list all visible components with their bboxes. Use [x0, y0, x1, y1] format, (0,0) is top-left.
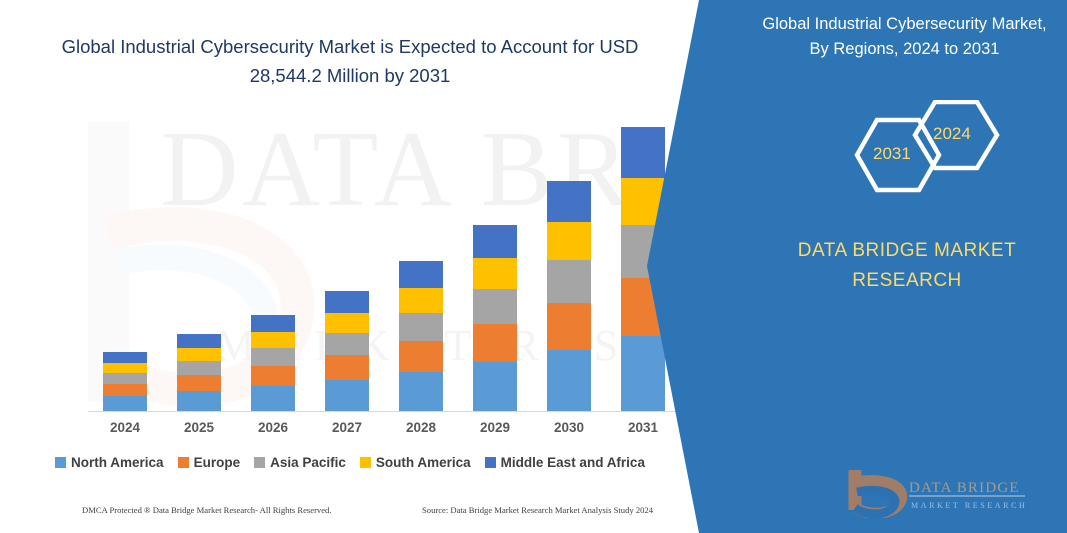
bar-segment [103, 373, 147, 384]
dbmr-logo-sub: MARKET RESEARCH [911, 501, 1027, 510]
right-blue-panel: Global Industrial Cybersecurity Market, … [647, 0, 1067, 533]
bar-segment [547, 181, 591, 222]
legend-swatch-icon [178, 457, 189, 468]
legend-label: Middle East and Africa [501, 455, 645, 470]
legend-swatch-icon [360, 457, 371, 468]
bar-column [399, 261, 443, 412]
legend-label: South America [376, 455, 471, 470]
bar-column [177, 334, 221, 412]
bar-segment [547, 350, 591, 412]
x-axis-labels: 20242025202620272028202920302031 [88, 420, 680, 446]
bar-segment [325, 380, 369, 412]
legend-label: Europe [194, 455, 241, 470]
bar-segment [621, 336, 665, 412]
bar-segment [399, 261, 443, 288]
bar-segment [103, 384, 147, 396]
footer-source: Source: Data Bridge Market Research Mark… [422, 505, 653, 515]
bar-segment [473, 362, 517, 412]
legend-item[interactable]: Asia Pacific [254, 455, 346, 470]
footer-copyright: DMCA Protected ® Data Bridge Market Rese… [82, 505, 332, 515]
legend-item[interactable]: North America [55, 455, 164, 470]
bar-segment [399, 313, 443, 341]
legend-label: North America [71, 455, 164, 470]
chart-legend: North AmericaEuropeAsia PacificSouth Ame… [0, 455, 700, 470]
panel-brand-line1: DATA BRIDGE MARKET [798, 240, 1016, 261]
dbmr-logo-icon: DATA BRIDGE MARKET RESEARCH [847, 466, 1032, 518]
bar-segment [251, 348, 295, 366]
hex-label-2031: 2031 [873, 144, 911, 164]
bar-segment [399, 341, 443, 372]
legend-item[interactable]: Middle East and Africa [485, 455, 645, 470]
bar-segment [251, 366, 295, 386]
infographic-canvas: DATA BRIDGE MARKET RESEARCH Global Indus… [0, 0, 1067, 533]
x-axis-tick-label: 2028 [384, 420, 458, 435]
legend-swatch-icon [55, 457, 66, 468]
bar-segment [473, 225, 517, 258]
x-axis-line [88, 411, 680, 412]
panel-title: Global Industrial Cybersecurity Market, … [757, 12, 1052, 62]
bar-segment [177, 361, 221, 375]
bar-segment [251, 332, 295, 348]
bar-segment [621, 127, 665, 178]
panel-brand: DATA BRIDGE MARKET RESEARCH [757, 236, 1057, 296]
x-axis-tick-label: 2024 [88, 420, 162, 435]
bar-segment [547, 260, 591, 303]
footer: DMCA Protected ® Data Bridge Market Rese… [72, 505, 692, 525]
x-axis-tick-label: 2026 [236, 420, 310, 435]
x-axis-tick-label: 2031 [606, 420, 680, 435]
bar-segment [103, 352, 147, 363]
bar-column [325, 291, 369, 412]
bar-segment [103, 363, 147, 373]
bar-segment [473, 324, 517, 362]
bar-column [547, 181, 591, 412]
bar-segment [177, 348, 221, 361]
stacked-bar-chart [88, 100, 678, 412]
bar-segment [325, 291, 369, 313]
bar-segment [547, 222, 591, 260]
bar-segment [325, 313, 369, 333]
dbmr-logo-main: DATA BRIDGE [909, 480, 1020, 496]
dbmr-logo: DATA BRIDGE MARKET RESEARCH [847, 466, 1032, 518]
bar-segment [177, 334, 221, 348]
hex-label-2024: 2024 [933, 124, 971, 144]
bar-segment [547, 303, 591, 350]
bar-segment [325, 333, 369, 355]
panel-brand-line2: RESEARCH [852, 270, 962, 291]
hexagon-group: 2031 2024 [747, 100, 1047, 205]
bar-segment [251, 386, 295, 412]
x-axis-tick-label: 2025 [162, 420, 236, 435]
bar-segment [473, 289, 517, 324]
bar-segment [399, 372, 443, 412]
bar-segment [251, 315, 295, 332]
bar-column [251, 315, 295, 412]
bar-column [473, 225, 517, 412]
bar-segment [473, 258, 517, 289]
legend-item[interactable]: Europe [178, 455, 241, 470]
x-axis-tick-label: 2029 [458, 420, 532, 435]
bar-segment [103, 396, 147, 412]
legend-swatch-icon [485, 457, 496, 468]
x-axis-tick-label: 2030 [532, 420, 606, 435]
legend-swatch-icon [254, 457, 265, 468]
bar-segment [325, 355, 369, 380]
bar-segment [177, 391, 221, 412]
legend-item[interactable]: South America [360, 455, 471, 470]
legend-label: Asia Pacific [270, 455, 346, 470]
x-axis-tick-label: 2027 [310, 420, 384, 435]
bar-column [103, 352, 147, 412]
bar-segment [399, 288, 443, 313]
chart-title: Global Industrial Cybersecurity Market i… [30, 32, 670, 90]
bar-segment [177, 375, 221, 391]
